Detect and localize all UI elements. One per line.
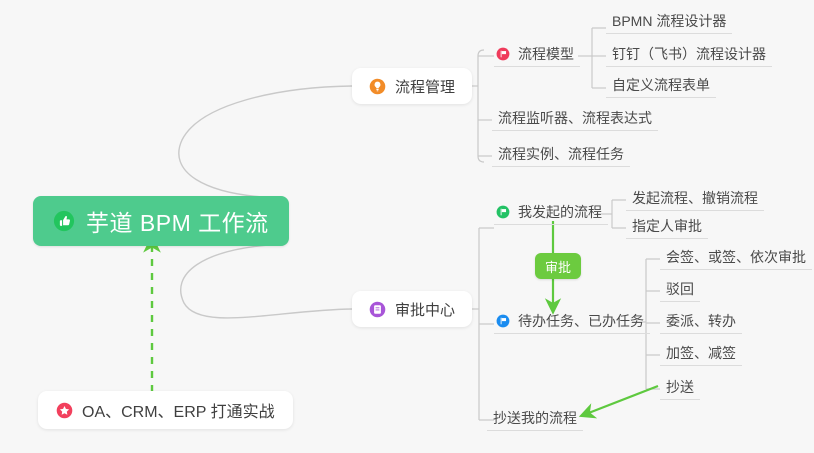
node-cc[interactable]: 抄送 xyxy=(660,378,700,400)
node-label: 指定人审批 xyxy=(632,216,702,236)
clipboard-icon xyxy=(369,301,386,318)
node-bpmn-designer[interactable]: BPMN 流程设计器 xyxy=(606,12,732,34)
flag-icon xyxy=(496,205,510,219)
node-label: 我发起的流程 xyxy=(518,202,602,222)
bottom-card-oa-crm-erp[interactable]: OA、CRM、ERP 打通实战 xyxy=(38,391,293,429)
node-label: 钉钉（飞书）流程设计器 xyxy=(612,44,766,64)
branch-process-management[interactable]: 流程管理 xyxy=(352,68,472,104)
node-process-instance-task[interactable]: 流程实例、流程任务 xyxy=(492,145,630,167)
bottom-card-label: OA、CRM、ERP 打通实战 xyxy=(82,398,275,422)
node-delegate-transfer[interactable]: 委派、转办 xyxy=(660,312,742,334)
star-icon xyxy=(56,402,73,419)
node-label: 驳回 xyxy=(666,279,694,299)
node-label: 抄送 xyxy=(666,377,694,397)
node-label: 待办任务、已办任务 xyxy=(518,311,644,331)
node-label: 自定义流程表单 xyxy=(612,75,710,95)
node-dingtalk-feishu-designer[interactable]: 钉钉（飞书）流程设计器 xyxy=(606,45,772,67)
node-start-cancel-process[interactable]: 发起流程、撤销流程 xyxy=(626,189,764,211)
node-label: 会签、或签、依次审批 xyxy=(666,247,806,267)
node-reject[interactable]: 驳回 xyxy=(660,280,700,302)
node-process-listener-expression[interactable]: 流程监听器、流程表达式 xyxy=(492,109,658,131)
branch-approval-center[interactable]: 审批中心 xyxy=(352,291,472,327)
node-label: 加签、减签 xyxy=(666,343,736,363)
mindmap-canvas: 芋道 BPM 工作流 流程管理 流程模型 BPMN 流程设计器 钉钉（飞书）流程 xyxy=(0,0,814,453)
flag-icon xyxy=(496,314,510,328)
node-todo-done-tasks[interactable]: 待办任务、已办任务 xyxy=(494,312,650,334)
root-node[interactable]: 芋道 BPM 工作流 xyxy=(33,196,289,246)
node-cc-to-me-process[interactable]: 抄送我的流程 xyxy=(487,409,583,431)
branch-label: 流程管理 xyxy=(395,76,455,97)
branch-label: 审批中心 xyxy=(395,299,455,320)
node-label: 流程模型 xyxy=(518,44,574,64)
node-process-model[interactable]: 流程模型 xyxy=(494,45,580,67)
node-label: BPMN 流程设计器 xyxy=(612,11,726,31)
node-add-remove-signer[interactable]: 加签、减签 xyxy=(660,344,742,366)
node-label: 流程监听器、流程表达式 xyxy=(498,108,652,128)
node-label: 发起流程、撤销流程 xyxy=(632,188,758,208)
node-label: 抄送我的流程 xyxy=(493,408,577,428)
node-designated-approver[interactable]: 指定人审批 xyxy=(626,217,708,239)
flag-icon xyxy=(496,47,510,61)
lightbulb-icon xyxy=(369,78,386,95)
node-label: 委派、转办 xyxy=(666,311,736,331)
thumbs-up-icon xyxy=(53,210,75,232)
approval-badge-label: 审批 xyxy=(545,257,571,276)
node-label: 流程实例、流程任务 xyxy=(498,144,624,164)
node-custom-process-form[interactable]: 自定义流程表单 xyxy=(606,76,716,98)
approval-badge: 审批 xyxy=(535,253,581,279)
root-label: 芋道 BPM 工作流 xyxy=(86,204,269,238)
node-my-initiated-process[interactable]: 我发起的流程 xyxy=(494,203,608,225)
node-countersign-orsign-sequential[interactable]: 会签、或签、依次审批 xyxy=(660,248,812,270)
